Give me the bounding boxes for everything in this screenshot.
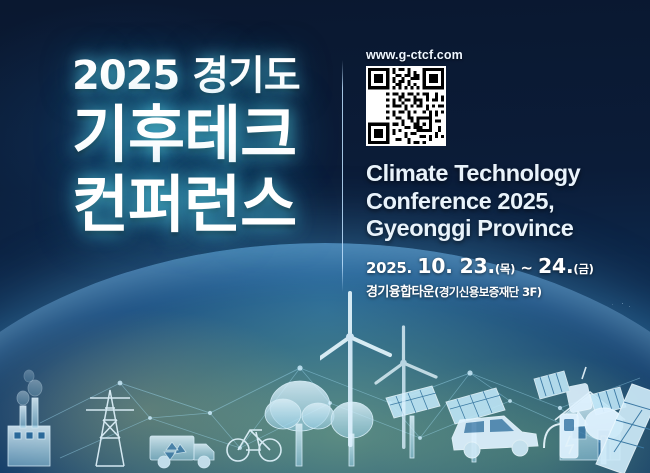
event-venue: 경기융합타운(경기신용보증재단 3F): [366, 281, 634, 300]
venue-detail: (경기신용보증재단 3F): [434, 285, 541, 299]
date-range-separator: ~: [520, 259, 532, 277]
title-line-1: 2025 경기도: [72, 52, 342, 100]
korean-title: 2025 경기도 기후테크 컨퍼런스: [72, 52, 342, 240]
title-line-2: 기후테크: [72, 100, 342, 170]
star-dot: [612, 304, 613, 305]
event-date: 2025. 10. 23.(목) ~ 24.(금): [366, 254, 634, 278]
conference-poster: 2025 경기도 기후테크 컨퍼런스 www.g-ctcf.com: [0, 0, 650, 473]
english-title-line-2: Conference 2025,: [366, 188, 634, 216]
english-title-line-3: Gyeonggi Province: [366, 215, 634, 243]
qr-code[interactable]: [366, 66, 446, 146]
date-end-day: 24.: [538, 254, 573, 278]
info-column: www.g-ctcf.com: [366, 48, 634, 300]
star-dot: [629, 306, 630, 307]
english-title-line-1: Climate Technology: [366, 160, 634, 188]
english-title: Climate Technology Conference 2025, Gyeo…: [366, 160, 634, 243]
venue-name: 경기융합타운: [366, 285, 434, 300]
date-weekday-start: (목): [495, 262, 515, 276]
vertical-divider: [342, 60, 343, 292]
qr-code-image: [368, 68, 444, 144]
star-dot: [622, 303, 623, 304]
date-month-day: 10. 23.: [417, 254, 495, 278]
date-year: 2025.: [366, 259, 412, 277]
title-line-3: 컨퍼런스: [72, 170, 342, 240]
date-weekday-end: (금): [573, 262, 593, 276]
website-url[interactable]: www.g-ctcf.com: [366, 48, 634, 62]
